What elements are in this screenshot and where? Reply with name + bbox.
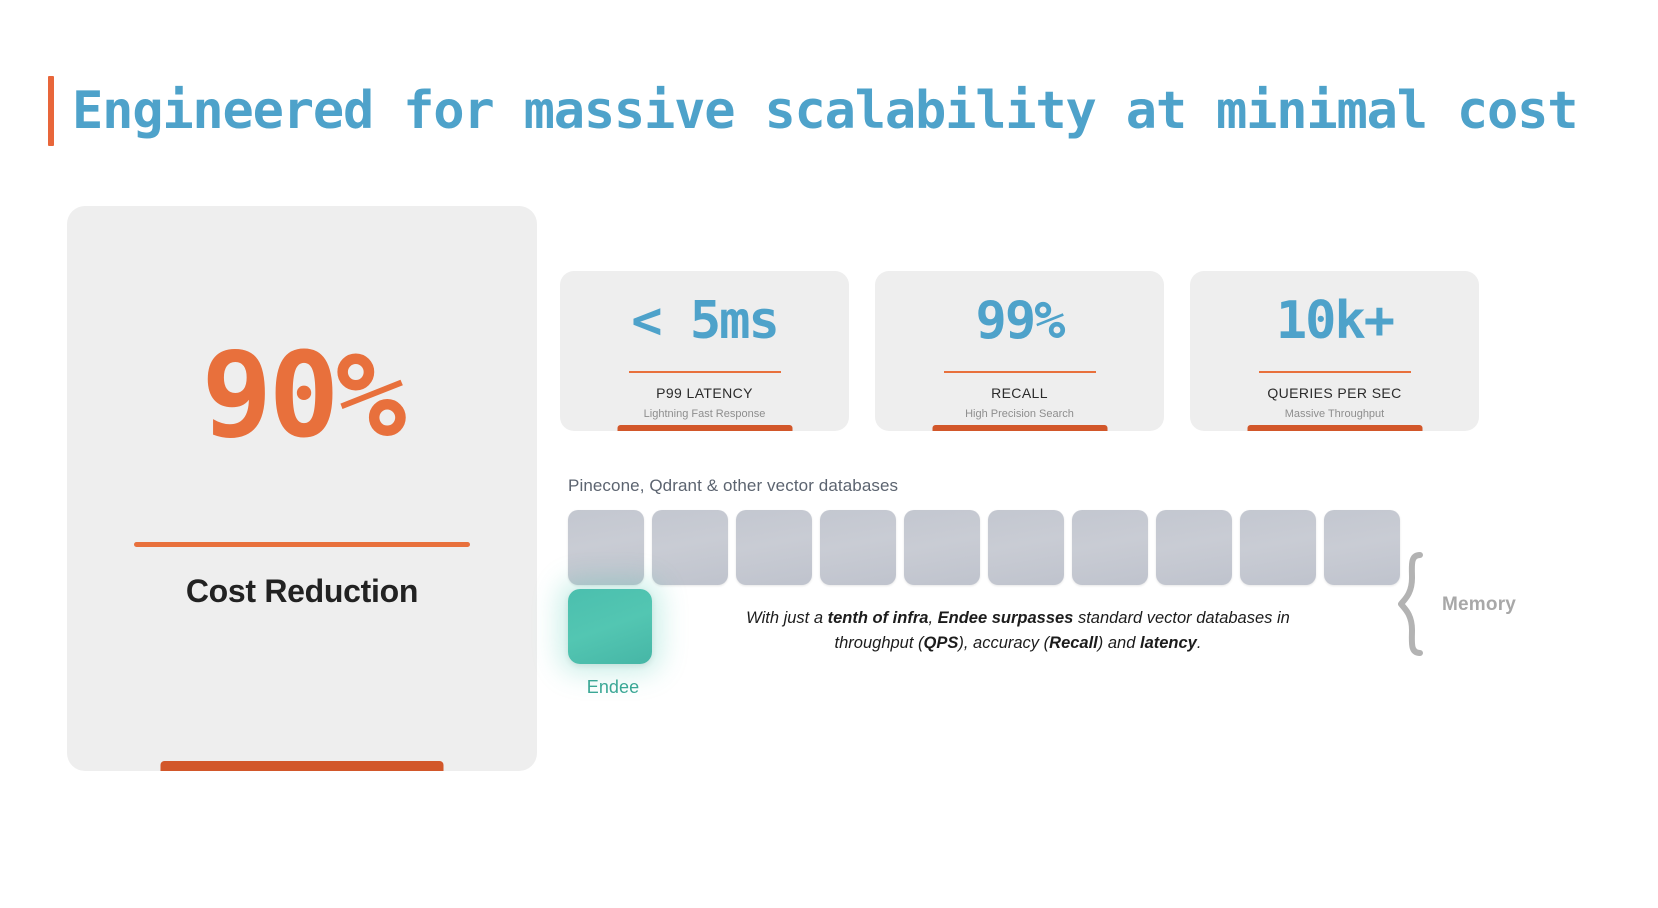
stat-sublabel: High Precision Search — [965, 408, 1074, 420]
stat-sublabel: Massive Throughput — [1285, 408, 1384, 420]
competitor-block — [1324, 510, 1400, 585]
competitor-block — [568, 510, 644, 585]
stat-value: < 5ms — [631, 295, 778, 347]
competitor-block — [904, 510, 980, 585]
hero-bottom-accent-bar — [161, 761, 444, 771]
stat-bottom-accent-bar — [1247, 425, 1422, 431]
stat-label: RECALL — [991, 385, 1048, 401]
stat-sublabel: Lightning Fast Response — [644, 408, 766, 420]
competitor-block — [1240, 510, 1316, 585]
stat-divider — [944, 371, 1096, 373]
endee-group: Endee — [568, 589, 658, 698]
curly-brace-icon — [1398, 552, 1428, 657]
note-text-2: , — [928, 609, 937, 627]
hero-stat-value: 90% — [201, 336, 402, 454]
stat-label: P99 LATENCY — [656, 385, 753, 401]
note-bold-endee-surpasses: Endee surpasses — [938, 609, 1074, 627]
memory-label: Memory — [1442, 594, 1516, 616]
comparison-note: With just a tenth of infra, Endee surpas… — [728, 606, 1308, 656]
title-accent-bar — [48, 76, 54, 146]
slide-root: Engineered for massive scalability at mi… — [0, 0, 1658, 908]
endee-label: Endee — [568, 677, 658, 698]
stat-card-recall: 99% RECALL High Precision Search — [875, 271, 1164, 431]
note-bold-qps: QPS — [924, 634, 959, 652]
note-text-3: standard vector databases — [1073, 609, 1272, 627]
competitor-block — [736, 510, 812, 585]
stat-bottom-accent-bar — [617, 425, 792, 431]
competitor-block — [652, 510, 728, 585]
competitor-block — [988, 510, 1064, 585]
stat-card-qps: 10k+ QUERIES PER SEC Massive Throughput — [1190, 271, 1479, 431]
stat-cards-row: < 5ms P99 LATENCY Lightning Fast Respons… — [560, 271, 1479, 431]
stat-divider — [1259, 371, 1411, 373]
hero-divider — [134, 542, 470, 547]
note-text-5: ), accuracy ( — [958, 634, 1049, 652]
competitor-block — [820, 510, 896, 585]
note-text-7: . — [1197, 634, 1202, 652]
memory-annotation: Memory — [1398, 552, 1516, 657]
stat-card-latency: < 5ms P99 LATENCY Lightning Fast Respons… — [560, 271, 849, 431]
competitor-block — [1156, 510, 1232, 585]
note-bold-latency: latency — [1140, 634, 1197, 652]
stat-bottom-accent-bar — [932, 425, 1107, 431]
endee-block — [568, 589, 652, 664]
hero-stat-label: Cost Reduction — [186, 573, 418, 610]
competitor-caption: Pinecone, Qdrant & other vector database… — [568, 476, 1588, 496]
hero-stat-card: 90% Cost Reduction — [67, 206, 537, 771]
stat-value: 99% — [976, 295, 1064, 347]
note-bold-tenth-of-infra: tenth of infra — [828, 609, 929, 627]
stat-value: 10k+ — [1276, 295, 1393, 347]
note-text-1: With just a — [746, 609, 827, 627]
competitor-block — [1072, 510, 1148, 585]
page-title: Engineered for massive scalability at mi… — [48, 76, 1577, 146]
stat-label: QUERIES PER SEC — [1267, 385, 1401, 401]
note-text-6: ) and — [1098, 634, 1140, 652]
note-bold-recall: Recall — [1049, 634, 1098, 652]
page-title-text: Engineered for massive scalability at mi… — [72, 76, 1577, 146]
stat-divider — [629, 371, 781, 373]
